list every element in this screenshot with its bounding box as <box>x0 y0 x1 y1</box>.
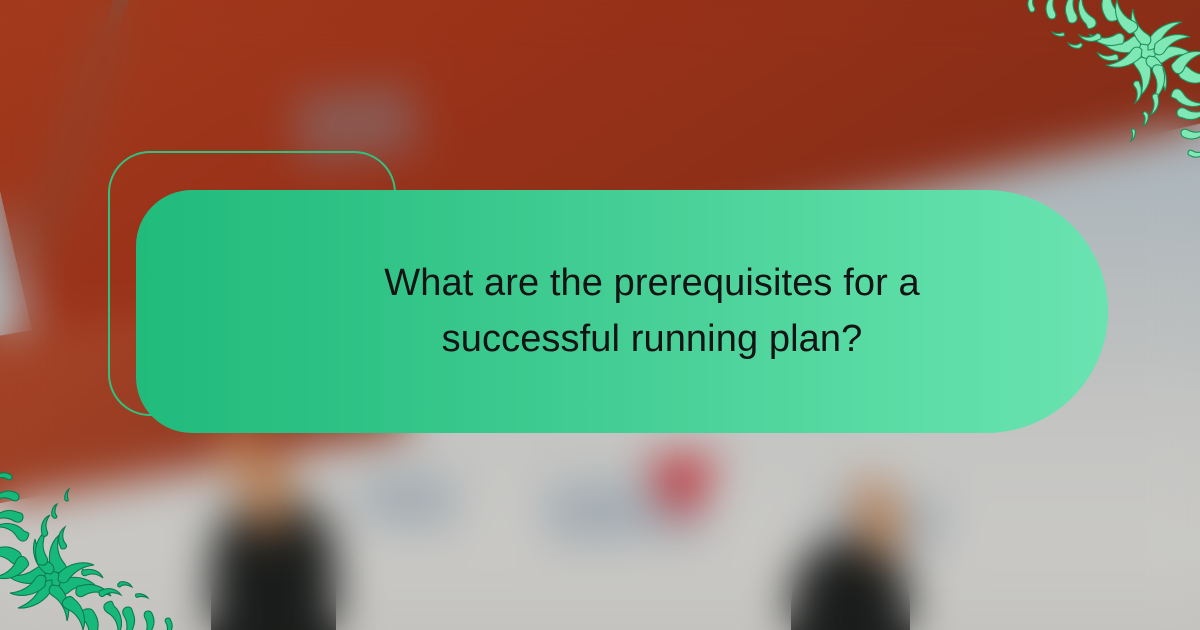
poster-canvas: What are the prerequisites for a success… <box>0 0 1200 630</box>
question-card: What are the prerequisites for a success… <box>136 190 1108 433</box>
question-title: What are the prerequisites for a success… <box>222 256 1022 366</box>
